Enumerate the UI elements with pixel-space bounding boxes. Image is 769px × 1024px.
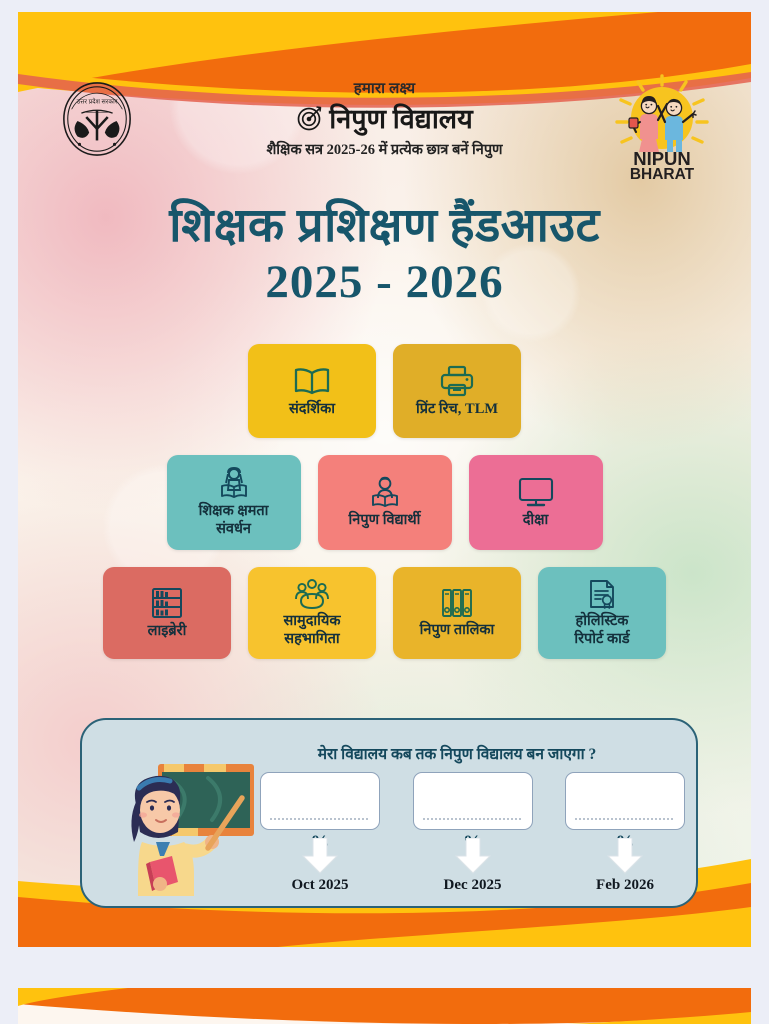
page-1: उत्तर प्रदेश सरकार हमारा लक्ष्य bbox=[18, 12, 751, 947]
tagline-sub: शैक्षिक सत्र 2025-26 में प्रत्येक छात्र … bbox=[175, 139, 595, 159]
card-library[interactable]: लाइब्रेरी bbox=[103, 567, 231, 659]
community-group-icon bbox=[292, 579, 332, 609]
topic-card-grid: संदर्शिका प्रिंट रिच, TLM bbox=[18, 344, 751, 676]
card-label: शिक्षक क्षमता संवर्धन bbox=[199, 503, 269, 538]
card-shikshak-kshamta-samvardhan[interactable]: शिक्षक क्षमता संवर्धन bbox=[167, 455, 301, 550]
card-diksha[interactable]: दीक्षा bbox=[469, 455, 603, 550]
tagline-main-text: निपुण विद्यालय bbox=[329, 99, 473, 136]
down-arrow-icon bbox=[299, 838, 341, 874]
header-tagline-block: हमारा लक्ष्य निपुण विद्यालय शैक्षिक सत्र… bbox=[175, 78, 595, 159]
nipun-bharat-logo: NIPUN BHARAT bbox=[609, 70, 715, 182]
down-arrow-icon bbox=[452, 838, 494, 874]
card-samudayik-sahbhagita[interactable]: सामुदायिक सहभागिता bbox=[248, 567, 376, 659]
page-title: शिक्षक प्रशिक्षण हैंडआउट bbox=[18, 200, 751, 253]
teacher-with-chalkboard-illustration bbox=[112, 758, 262, 898]
goal-entry-0: % Oct 2025 bbox=[260, 772, 380, 894]
student-reading-icon bbox=[365, 476, 405, 508]
card-label: निपुण तालिका bbox=[420, 622, 495, 640]
card-nipun-vidyarthi[interactable]: निपुण विद्यार्थी bbox=[318, 455, 452, 550]
month-label: Oct 2025 bbox=[291, 877, 348, 894]
monitor-icon bbox=[516, 476, 556, 508]
document-viewer: उत्तर प्रदेश सरकार हमारा लक्ष्य bbox=[0, 0, 769, 1024]
card-sandarshika[interactable]: संदर्शिका bbox=[248, 344, 376, 438]
card-label: होलिस्टिक रिपोर्ट कार्ड bbox=[574, 613, 629, 648]
card-holistic-report-card[interactable]: होलिस्टिक रिपोर्ट कार्ड bbox=[538, 567, 666, 659]
page-2-top-wave-decoration bbox=[18, 988, 751, 1024]
card-nipun-talika[interactable]: निपुण तालिका bbox=[393, 567, 521, 659]
card-label: संदर्शिका bbox=[289, 401, 335, 419]
month-label: Feb 2026 bbox=[596, 877, 654, 894]
card-label: दीक्षा bbox=[523, 512, 549, 530]
goal-entry-1: % Dec 2025 bbox=[413, 772, 533, 894]
nipun-logo-line2: BHARAT bbox=[630, 166, 695, 182]
card-row-3: लाइब्रेरी सामुदायिक सहभागिता bbox=[18, 567, 751, 659]
percent-input-dec[interactable] bbox=[413, 772, 533, 830]
tagline-main-row: निपुण विद्यालय bbox=[175, 99, 595, 136]
teacher-reading-icon bbox=[214, 467, 254, 499]
page-2 bbox=[18, 988, 751, 1024]
card-label: प्रिंट रिच, TLM bbox=[416, 401, 498, 419]
bookshelf-icon bbox=[149, 587, 185, 619]
card-print-rich-tlm[interactable]: प्रिंट रिच, TLM bbox=[393, 344, 521, 438]
tagline-small: हमारा लक्ष्य bbox=[175, 78, 595, 98]
report-card-icon bbox=[586, 579, 618, 609]
dotted-writing-line bbox=[575, 818, 675, 820]
svg-text:उत्तर प्रदेश सरकार: उत्तर प्रदेश सरकार bbox=[77, 97, 118, 105]
card-row-2: शिक्षक क्षमता संवर्धन निपुण विद्यार्थी bbox=[18, 455, 751, 550]
card-label: निपुण विद्यार्थी bbox=[349, 512, 421, 530]
percent-input-oct[interactable] bbox=[260, 772, 380, 830]
binders-icon bbox=[439, 588, 475, 618]
page-header: उत्तर प्रदेश सरकार हमारा लक्ष्य bbox=[18, 70, 751, 188]
down-arrow-icon bbox=[604, 838, 646, 874]
card-row-1: संदर्शिका प्रिंट रिच, TLM bbox=[18, 344, 751, 438]
goal-panel: मेरा विद्यालय कब तक निपुण विद्यालय बन जा… bbox=[80, 718, 698, 908]
percent-input-feb[interactable] bbox=[565, 772, 685, 830]
printer-icon bbox=[439, 365, 475, 397]
month-label: Dec 2025 bbox=[444, 877, 502, 894]
page-title-block: शिक्षक प्रशिक्षण हैंडआउट 2025 - 2026 bbox=[18, 200, 751, 309]
card-label: सामुदायिक सहभागिता bbox=[284, 613, 341, 648]
goal-question: मेरा विद्यालय कब तक निपुण विद्यालय बन जा… bbox=[232, 742, 682, 764]
card-label: लाइब्रेरी bbox=[148, 623, 187, 641]
target-spiral-icon bbox=[296, 105, 322, 131]
uttar-pradesh-government-emblem-icon: उत्तर प्रदेश सरकार bbox=[58, 80, 136, 158]
dotted-writing-line bbox=[423, 818, 523, 820]
goal-entry-2: % Feb 2026 bbox=[565, 772, 685, 894]
dotted-writing-line bbox=[270, 818, 370, 820]
page-title-years: 2025 - 2026 bbox=[18, 255, 751, 309]
goal-entry-list: % Oct 2025 % Dec 2025 bbox=[260, 772, 685, 894]
open-book-icon bbox=[292, 365, 332, 397]
